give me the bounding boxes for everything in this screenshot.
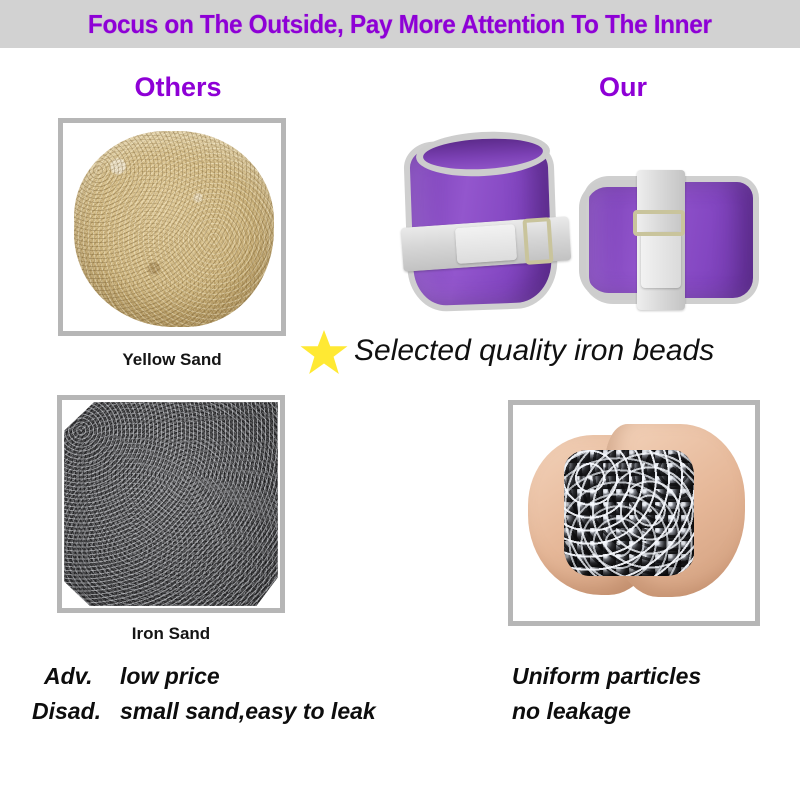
iron-sand-mass — [64, 402, 278, 606]
star-icon — [300, 329, 348, 375]
label-disadvantage: Disad. — [32, 698, 101, 725]
ankle-weight-front-view — [402, 126, 562, 314]
photo-iron-beads-inner — [513, 405, 755, 621]
photo-yellow-sand-inner — [63, 123, 281, 331]
iron-bead-pile — [564, 450, 695, 575]
yellow-sand-pile — [74, 131, 275, 327]
benefit-uniform-particles: Uniform particles — [512, 663, 701, 690]
ankle-weight-side-view — [577, 170, 767, 310]
column-heading-our: Our — [543, 72, 703, 103]
iron-sand-grain-texture — [64, 402, 278, 606]
value-disadvantage: small sand,easy to leak — [120, 698, 376, 725]
benefit-no-leakage: no leakage — [512, 698, 631, 725]
photo-iron-beads — [508, 400, 760, 626]
page-title: Focus on The Outside, Pay More Attention… — [88, 9, 712, 40]
tagline-selected-quality-iron-beads: Selected quality iron beads — [354, 334, 714, 368]
iron-bead-highlights — [564, 450, 695, 575]
yellow-sand-grain-texture — [74, 131, 275, 327]
photo-iron-sand — [57, 395, 285, 613]
photo-iron-sand-inner — [62, 400, 280, 608]
label-advantage: Adv. — [44, 663, 93, 690]
ankle-weight-side-trim — [579, 180, 637, 300]
caption-iron-sand: Iron Sand — [57, 624, 285, 644]
header-banner: Focus on The Outside, Pay More Attention… — [0, 0, 800, 48]
column-heading-others: Others — [98, 72, 258, 103]
ankle-weight-buckle — [633, 210, 685, 236]
ankle-weight-strap-tab — [455, 224, 517, 264]
ankle-weight-strap-tab — [641, 232, 681, 288]
ankle-weight-buckle — [522, 217, 553, 265]
photo-ankle-weights — [392, 118, 788, 318]
photo-yellow-sand — [58, 118, 286, 336]
value-advantage: low price — [120, 663, 220, 690]
caption-yellow-sand: Yellow Sand — [58, 350, 286, 370]
